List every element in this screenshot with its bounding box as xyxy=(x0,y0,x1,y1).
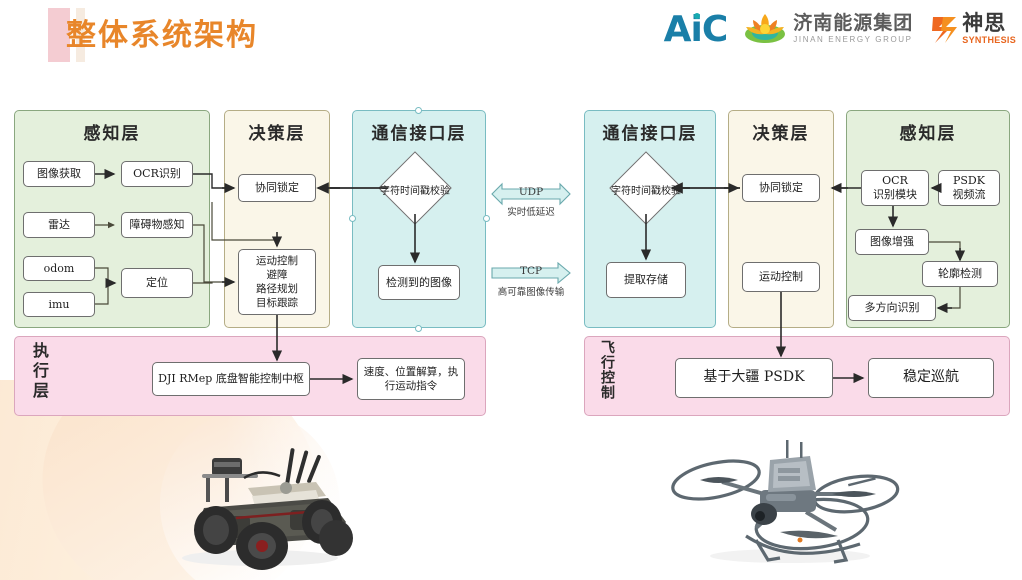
diamond-timestamp-check-right-label: 字符时间戳校验 xyxy=(602,182,690,197)
udp-label: UDP xyxy=(490,186,572,198)
aic-dot-icon xyxy=(694,13,700,19)
page-title: 整体系统架构 xyxy=(66,14,258,58)
left-execution-layer-title: 执行层 xyxy=(27,342,51,402)
left-perception-layer-title: 感知层 xyxy=(15,119,209,144)
system-architecture-diagram: 感知层 图像获取 OCR识别 雷达 障碍物感知 odom imu 定位 决策层 … xyxy=(0,0,1022,580)
synthesis-logo: 神思 SYNTHESIS xyxy=(929,13,1016,45)
node-image-enhance[interactable]: 图像增强 xyxy=(855,229,929,255)
synthesis-mark-icon xyxy=(929,13,959,45)
jinan-energy-logo: 济南能源集团 JINAN ENERGY GROUP xyxy=(743,11,913,47)
aic-logo: AiC xyxy=(664,9,728,50)
panel-handle-bottom-left-comm[interactable] xyxy=(415,325,422,332)
node-contour-detection[interactable]: 轮廓检测 xyxy=(922,261,998,287)
node-stable-cruise[interactable]: 稳定巡航 xyxy=(868,358,994,398)
lotus-flower-icon xyxy=(743,11,787,47)
node-lidar[interactable]: 雷达 xyxy=(23,212,95,238)
synthesis-logo-cn: 神思 xyxy=(962,13,1016,34)
node-image-capture[interactable]: 图像获取 xyxy=(23,161,95,187)
node-odom[interactable]: odom xyxy=(23,256,95,281)
jinan-logo-en: JINAN ENERGY GROUP xyxy=(793,36,913,44)
udp-link-arrow: UDP xyxy=(490,182,572,206)
right-decision-layer-panel: 决策层 xyxy=(728,110,834,328)
node-imu[interactable]: imu xyxy=(23,292,95,317)
udp-sublabel: 实时低延迟 xyxy=(490,204,572,218)
node-coop-lock-right[interactable]: 协同锁定 xyxy=(742,174,820,202)
node-obstacle-perception[interactable]: 障碍物感知 xyxy=(121,212,193,238)
node-detected-image[interactable]: 检测到的图像 xyxy=(378,265,460,300)
node-coop-lock-left[interactable]: 协同锁定 xyxy=(238,174,316,202)
node-dji-rmep-chassis[interactable]: DJI RMep 底盘智能控制中枢 xyxy=(152,362,310,396)
jinan-logo-cn: 济南能源集团 xyxy=(793,14,913,33)
node-psdk-stream[interactable]: PSDK 视频流 xyxy=(938,170,1000,206)
node-motion-control-right[interactable]: 运动控制 xyxy=(742,262,820,292)
node-extract-store[interactable]: 提取存储 xyxy=(606,262,686,298)
left-comm-layer-title: 通信接口层 xyxy=(353,119,485,144)
left-decision-layer-title: 决策层 xyxy=(225,119,329,144)
panel-handle-top-left-comm[interactable] xyxy=(415,107,422,114)
page-header: 整体系统架构 AiC 济南能源集团 JINAN ENERGY GROUP xyxy=(0,0,1022,78)
panel-handle-left-left-comm[interactable] xyxy=(349,215,356,222)
node-motion-command[interactable]: 速度、位置解算，执行运动指令 xyxy=(357,358,465,400)
tcp-label: TCP xyxy=(490,265,572,277)
tcp-sublabel: 高可靠图像传输 xyxy=(484,284,578,298)
right-decision-layer-title: 决策层 xyxy=(729,119,833,144)
node-multi-direction-recognition[interactable]: 多方向识别 xyxy=(848,295,936,321)
right-flight-control-title: 飞行控制 xyxy=(597,340,617,400)
tcp-link-arrow: TCP xyxy=(490,262,572,284)
panel-handle-right-left-comm[interactable] xyxy=(483,215,490,222)
node-ocr-recognition[interactable]: OCR识别 xyxy=(121,161,193,187)
right-perception-layer-title: 感知层 xyxy=(847,119,1009,144)
node-motion-planning-left[interactable]: 运动控制 避障 路径规划 目标跟踪 xyxy=(238,249,316,315)
node-psdk-based[interactable]: 基于大疆 PSDK xyxy=(675,358,833,398)
node-ocr-module[interactable]: OCR 识别模块 xyxy=(861,170,929,206)
diamond-timestamp-check-left-label: 字符时间戳校验 xyxy=(371,182,459,197)
logo-group: AiC 济南能源集团 JINAN ENERGY GROUP xyxy=(664,4,1016,54)
node-localization[interactable]: 定位 xyxy=(121,268,193,298)
synthesis-logo-en: SYNTHESIS xyxy=(962,36,1016,45)
right-comm-layer-title: 通信接口层 xyxy=(585,119,715,144)
